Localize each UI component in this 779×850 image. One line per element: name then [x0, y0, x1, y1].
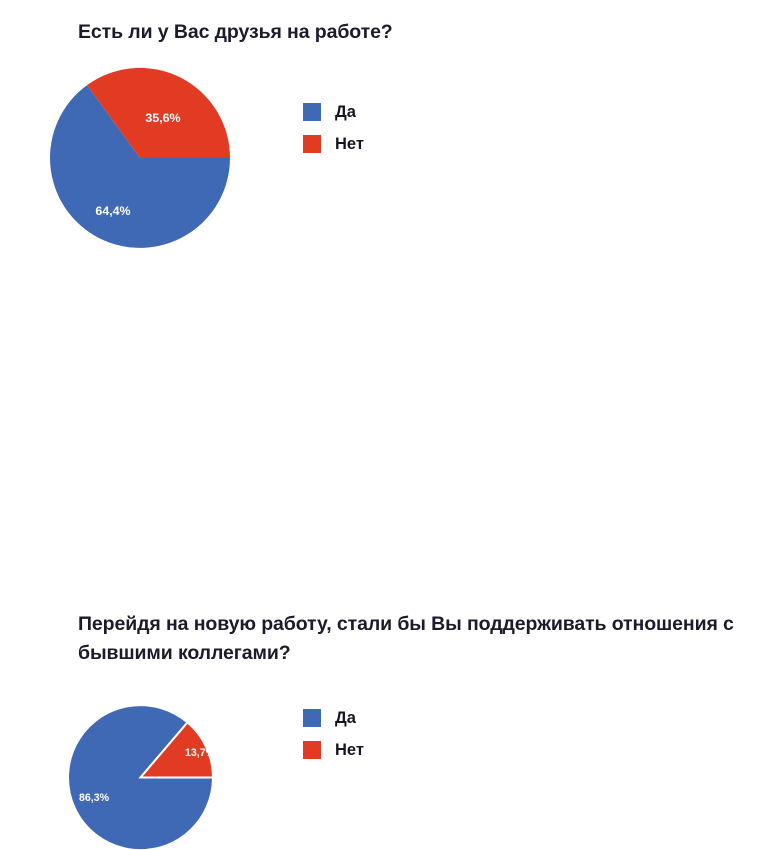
legend-label-yes: Да	[335, 709, 356, 727]
legend-former-colleagues: Да Нет	[303, 708, 364, 760]
pie-svg: 86,3% 13,7%	[68, 705, 213, 850]
pie-slice-label-no: 13,7%	[185, 747, 213, 759]
legend-label-yes: Да	[335, 103, 356, 121]
pie-chart-former-colleagues: 86,3% 13,7%	[68, 705, 213, 850]
legend-friends-at-work: Да Нет	[303, 102, 364, 154]
pie-chart-friends-at-work: 64,4% 35,6%	[50, 68, 230, 248]
pie-svg: 64,4% 35,6%	[50, 68, 230, 248]
pie-slice-label-yes: 64,4%	[95, 204, 130, 218]
page-title-secondary: Перейдя на новую работу, стали бы Вы под…	[78, 610, 738, 668]
chart-block-former-colleagues: Перейдя на новую работу, стали бы Вы под…	[0, 300, 779, 600]
pie-slice-label-yes: 86,3%	[79, 792, 110, 804]
legend-item-yes[interactable]: Да	[303, 102, 364, 122]
legend-label-no: Нет	[335, 135, 364, 153]
page-title: Есть ли у Вас друзья на работе?	[78, 18, 738, 47]
legend-item-yes[interactable]: Да	[303, 708, 364, 728]
legend-item-no[interactable]: Нет	[303, 740, 364, 760]
chart-block-friends-at-work: Есть ли у Вас друзья на работе? 64,4% 35…	[0, 0, 779, 300]
legend-swatch-no-icon	[303, 741, 321, 759]
legend-swatch-no-icon	[303, 135, 321, 153]
pie-slice-label-no: 35,6%	[145, 111, 180, 125]
legend-item-no[interactable]: Нет	[303, 134, 364, 154]
legend-swatch-yes-icon	[303, 103, 321, 121]
legend-label-no: Нет	[335, 741, 364, 759]
legend-swatch-yes-icon	[303, 709, 321, 727]
